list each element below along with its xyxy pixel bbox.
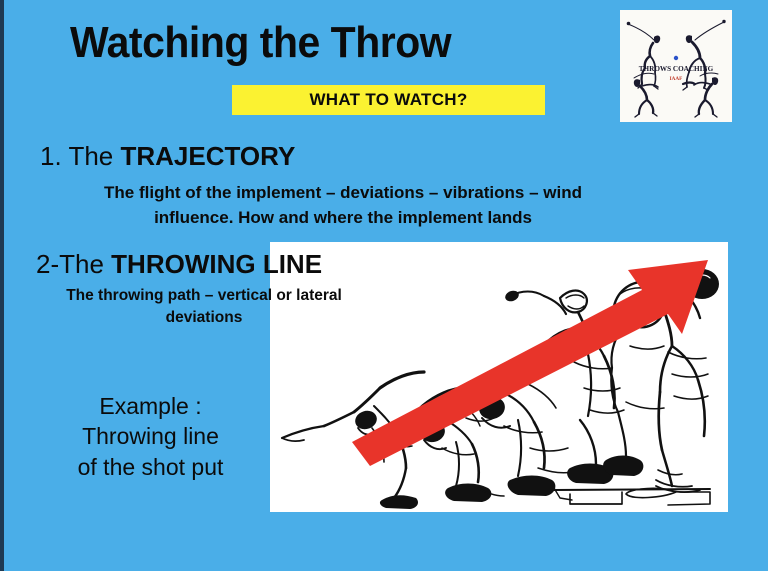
point-2-body-line-1: The throwing path – vertical or lateral (24, 285, 384, 307)
throws-coaching-logo: THROWS COACHING IAAF (620, 10, 732, 122)
point-2-heading: 2-The THROWING LINE (36, 249, 322, 280)
shot-put-sequence-artwork (270, 242, 728, 512)
point-2-lead: The (59, 249, 104, 279)
point-1-number: 1. (40, 141, 62, 171)
logo-caption: THROWS COACHING (639, 65, 714, 73)
point-2-number: 2- (36, 249, 59, 279)
what-to-watch-banner: WHAT TO WATCH? (232, 85, 545, 115)
example-line-3: of the shot put (38, 452, 263, 482)
point-1-keyword: TRAJECTORY (121, 141, 296, 171)
example-caption: Example : Throwing line of the shot put (38, 391, 263, 482)
shot-put-sequence-illustration (270, 242, 728, 512)
slide-canvas: Watching the Throw WHAT TO WATCH? (0, 0, 768, 571)
example-line-2: Throwing line (38, 421, 263, 451)
example-line-1: Example : (38, 391, 263, 421)
point-1-body: The flight of the implement – deviations… (28, 181, 658, 230)
point-1-heading: 1. The TRAJECTORY (40, 141, 295, 172)
logo-artwork: THROWS COACHING IAAF (620, 10, 732, 122)
banner-label: WHAT TO WATCH? (309, 90, 467, 110)
logo-sub-caption: IAAF (670, 76, 683, 82)
slide-left-border (0, 0, 4, 571)
point-1-body-line-2: influence. How and where the implement l… (28, 206, 658, 231)
point-2-body: The throwing path – vertical or lateral … (24, 285, 384, 330)
point-1-lead: The (68, 141, 113, 171)
page-title: Watching the Throw (70, 18, 451, 68)
point-2-body-line-2: deviations (24, 307, 384, 329)
point-2-keyword: THROWING LINE (111, 249, 322, 279)
point-1-body-line-1: The flight of the implement – deviations… (28, 181, 658, 206)
